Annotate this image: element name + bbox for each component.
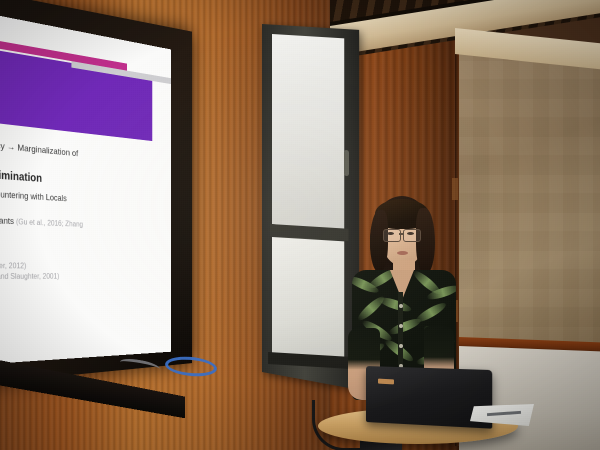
fabric-acoustic-wall bbox=[459, 50, 600, 345]
laptop-logo bbox=[378, 379, 394, 385]
mouth bbox=[397, 251, 408, 255]
slide-citation: (Leitner, 2012) bbox=[0, 262, 26, 271]
slide-body-text: kou)、Labor & welfare policy → Marginaliz… bbox=[0, 131, 165, 281]
shirt-button bbox=[399, 324, 403, 328]
glasses-lens-right bbox=[403, 229, 421, 242]
glasses-lens-left bbox=[383, 229, 401, 242]
slide-line: Welfare Distribution (Scheve and Slaught… bbox=[0, 270, 165, 281]
door-handle[interactable] bbox=[344, 150, 349, 176]
frosted-glass-panel-top bbox=[272, 34, 344, 233]
glasses-bridge bbox=[399, 233, 403, 235]
slide-line: ss in Public Discourses (Leitner, 2012) bbox=[0, 260, 165, 272]
frosted-glass-panel-bottom bbox=[272, 237, 344, 364]
display-screen[interactable]: kou)、Labor & welfare policy → Marginaliz… bbox=[0, 8, 171, 366]
presentation-slide: kou)、Labor & welfare policy → Marginaliz… bbox=[0, 8, 171, 366]
shirt-button bbox=[399, 304, 403, 308]
slide-citation: (Scheve and Slaughter, 2001) bbox=[0, 272, 59, 281]
conference-room-photo: kou)、Labor & welfare policy → Marginaliz… bbox=[0, 0, 600, 450]
shirt-button bbox=[399, 344, 403, 348]
